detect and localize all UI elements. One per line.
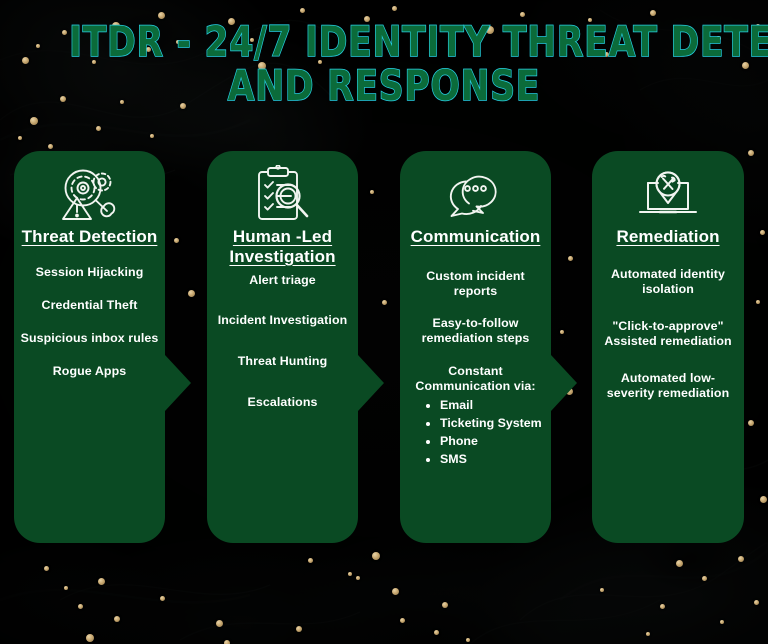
card-item: Automated low-severity remediation (598, 371, 738, 401)
list-item: SMS (440, 450, 545, 468)
card-threat-detection[interactable]: Threat Detection Session Hijacking Crede… (14, 151, 165, 543)
card-item-list: Alert triage Incident Investigation Thre… (213, 273, 352, 410)
title-line-1: ITDR - 24/7 IDENTITY THREAT DETECTION (69, 20, 699, 64)
list-item: Email (440, 396, 545, 414)
card-item-list: Automated identity isolation "Click-to-a… (598, 267, 738, 401)
infographic-canvas: ITDR - 24/7 IDENTITY THREAT DETECTION AN… (0, 0, 768, 644)
clipboard-checklist-magnifier-icon (252, 165, 314, 223)
flow-arrow-1 (165, 355, 191, 411)
card-title: Human -Led Investigation (213, 227, 352, 267)
card-item: Escalations (213, 395, 352, 410)
title-line-2: AND RESPONSE (69, 64, 699, 108)
card-item: Suspicious inbox rules (20, 331, 159, 346)
card-item: Custom incident reports (406, 269, 545, 299)
card-remediation[interactable]: Remediation Automated identity isolation… (592, 151, 744, 543)
speech-bubbles-icon (445, 165, 507, 223)
flow-arrow-2 (358, 355, 384, 411)
card-title: Threat Detection (20, 227, 159, 247)
card-item: Automated identity isolation (598, 267, 738, 297)
flow-arrow-3 (551, 355, 577, 411)
list-item: Phone (440, 432, 545, 450)
laptop-tools-pin-icon (636, 165, 700, 223)
card-item: Incident Investigation (213, 313, 352, 328)
card-item: Constant Communication via: (406, 364, 545, 394)
card-item-list: Session Hijacking Credential Theft Suspi… (20, 265, 159, 379)
card-item: Session Hijacking (20, 265, 159, 280)
card-item: Easy-to-follow remediation steps (406, 316, 545, 346)
card-item: Alert triage (213, 273, 352, 288)
card-title: Remediation (598, 227, 738, 247)
card-item: "Click-to-approve" Assisted remediation (598, 319, 738, 349)
page-title: ITDR - 24/7 IDENTITY THREAT DETECTION AN… (0, 20, 768, 108)
magnifier-gears-warning-icon (59, 165, 121, 223)
card-item-list: Custom incident reports Easy-to-follow r… (406, 269, 545, 468)
card-communication[interactable]: Communication Custom incident reports Ea… (400, 151, 551, 543)
card-item: Credential Theft (20, 298, 159, 313)
card-title: Communication (406, 227, 545, 247)
card-human-led-investigation[interactable]: Human -Led Investigation Alert triage In… (207, 151, 358, 543)
card-item: Threat Hunting (213, 354, 352, 369)
communication-channel-list: Email Ticketing System Phone SMS (406, 396, 545, 468)
card-item: Rogue Apps (20, 364, 159, 379)
list-item: Ticketing System (440, 414, 545, 432)
